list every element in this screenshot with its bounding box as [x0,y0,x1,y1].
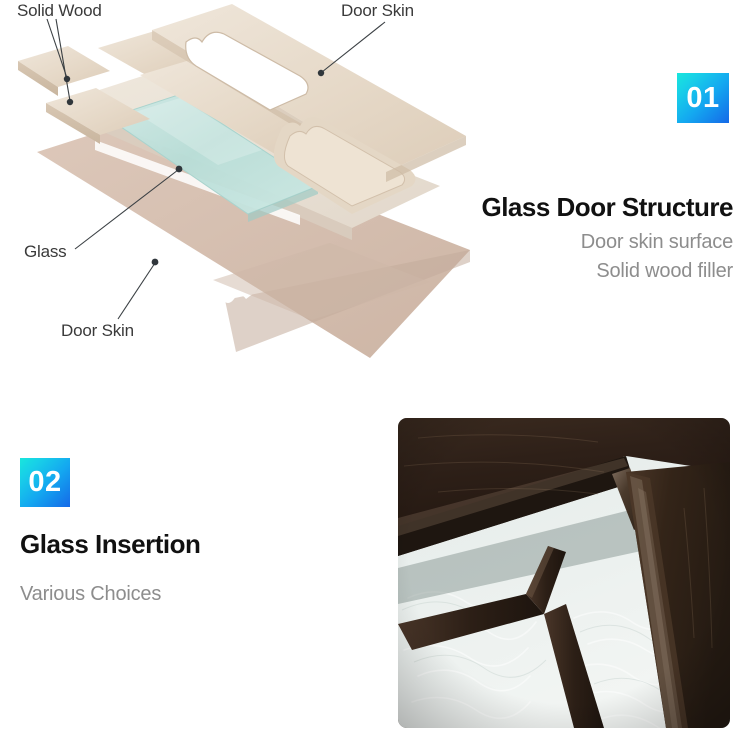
section-01-heading: Glass Door Structure [481,192,733,223]
callout-label-solid-wood: Solid Wood [17,1,102,21]
callout-label-glass: Glass [24,242,66,262]
callout-label-door-skin-bottom: Door Skin [61,321,134,341]
glass-insertion-photo [398,418,730,728]
section-02-subtitle-1: Various Choices [20,583,161,606]
section-badge-01: 01 [677,73,729,123]
exploded-door-diagram: Solid Wood Door Skin Glass Door Skin [0,0,470,380]
section-01-subtitle-2: Solid wood filler [596,260,733,283]
infographic-page: Solid Wood Door Skin Glass Door Skin 01 … [0,0,750,750]
section-01-subtitle-1: Door skin surface [581,231,733,254]
section-02-heading: Glass Insertion [20,529,200,560]
callout-label-door-skin-top: Door Skin [341,1,414,21]
section-badge-02: 02 [20,458,70,507]
